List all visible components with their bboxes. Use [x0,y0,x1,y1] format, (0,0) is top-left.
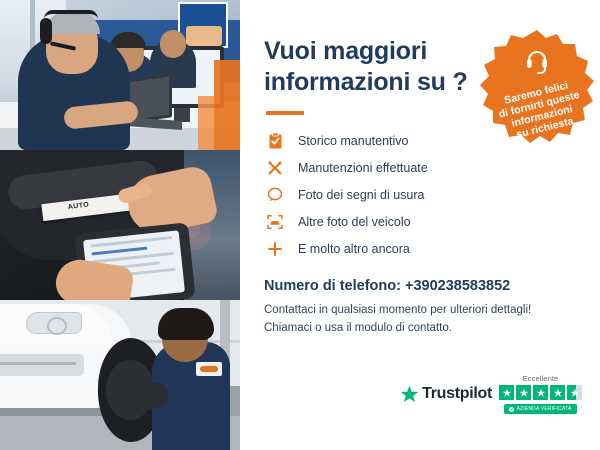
phone-label: Numero di telefono: [264,278,401,294]
trustpilot-star-5-partial [567,385,582,400]
headline-line-1: Vuoi maggiori [264,37,427,65]
trustpilot-widget[interactable]: Trustpilot Eccellente [400,374,582,414]
headset-band [44,10,98,19]
speech-bubble-icon [264,186,286,204]
car-headlight [26,312,82,334]
phone-number[interactable]: +390238583852 [405,278,510,294]
verified-badge-label: AZIENDA VERIFICATA [516,406,571,412]
clipboard-check-icon [264,132,286,150]
trustpilot-rating-label: Eccellente [523,374,559,383]
orange-shelf-2 [198,96,214,150]
sticker-on-car-photo [0,150,240,300]
mechanic-hair [158,308,214,340]
headset-earcup [40,18,52,44]
mechanic-uniform-logo [196,362,222,376]
trustpilot-rating: Eccellente [499,374,582,414]
subtext-line-2: Chiamaci o usa il modulo di contatto. [264,322,452,334]
list-item: Manutenzioni effettuate [264,154,578,181]
check-circle-icon [509,407,514,412]
callout-badge: Saremo felici di fornirti queste informa… [478,28,596,146]
subtext-line-1: Contattaci in qualsiasi momento per ulte… [264,304,531,316]
list-item: E molto altro ancora [264,235,578,262]
phone-line: Numero di telefono: +390238583852 [264,278,578,294]
trustpilot-star-2 [516,385,531,400]
trustpilot-star-icon [400,385,419,404]
contact-subtext: Contattaci in qualsiasi momento per ulte… [264,302,578,338]
trustpilot-star-3 [533,385,548,400]
headline-line-2: informazioni su ? [264,68,468,96]
mechanic-inspecting-car-photo [0,300,240,450]
trustpilot-logo: Trustpilot [400,385,492,404]
call-center-agents-photo [0,0,240,150]
plus-icon [264,240,286,258]
list-item: Altre foto del veicolo [264,208,578,235]
list-item-label: Manutenzioni effettuate [298,161,428,175]
tools-cross-icon [264,159,286,177]
scan-car-icon [264,213,286,231]
photo-column [0,0,240,450]
feature-list: Storico manutentivo Manutenzioni effettu… [264,127,578,262]
list-item-label: Altre foto del veicolo [298,215,411,229]
trustpilot-star-4 [550,385,565,400]
list-item-label: Foto dei segni di usura [298,188,424,202]
content-panel: Saremo felici di fornirti queste informa… [240,0,600,450]
agent-head-3 [160,30,186,58]
trustpilot-stars [499,385,582,400]
orange-shelf-1 [214,60,240,150]
car-grille [0,354,84,376]
list-item: Foto dei segni di usura [264,181,578,208]
trustpilot-star-1 [499,385,514,400]
trustpilot-name: Trustpilot [422,385,492,403]
verified-business-badge: AZIENDA VERIFICATA [504,404,576,414]
list-item-label: E molto altro ancora [298,242,410,256]
promo-banner: Saremo felici di fornirti queste informa… [0,0,600,450]
list-item-label: Storico manutentivo [298,134,408,148]
accent-divider [266,111,304,115]
